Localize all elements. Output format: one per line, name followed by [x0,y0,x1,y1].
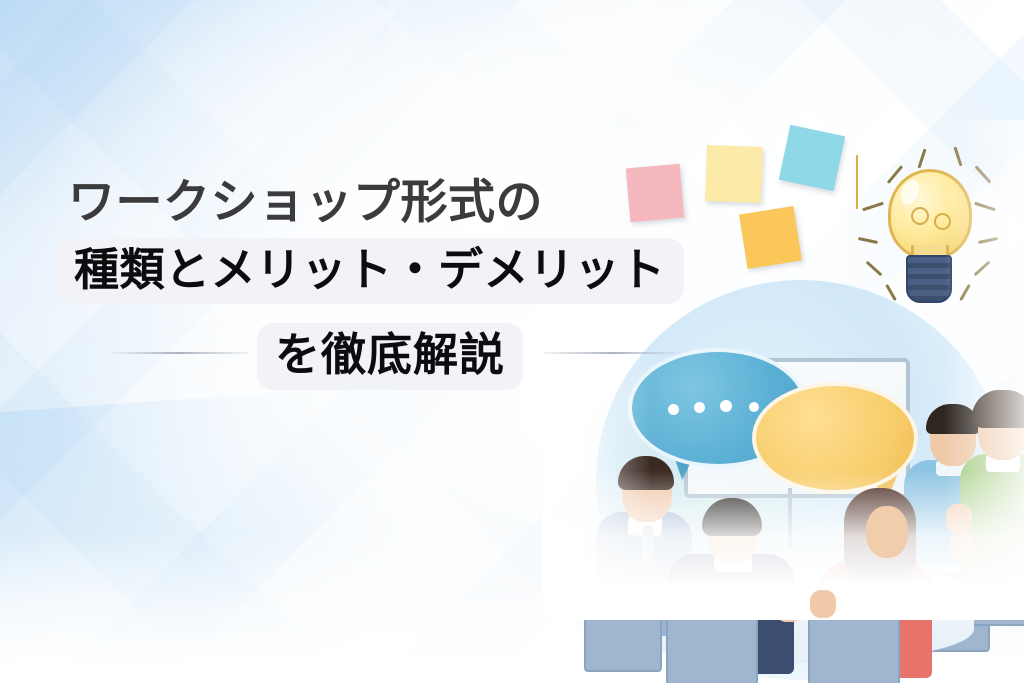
chair [666,606,758,683]
bulb-ray [978,237,998,244]
banner-title: ワークショップ形式の 種類とメリット・デメリット を徹底解説 [56,176,756,382]
bulb-ray [959,284,971,301]
light-bulb-icon [856,155,996,315]
bubble-dot [694,402,705,413]
person-green-cardigan [960,382,1024,602]
decorative-rule-left [106,352,248,354]
title-line-2-row: 種類とメリット・デメリット [56,238,684,305]
sticky-note-cyan [779,125,845,191]
person-hand [810,590,836,618]
person-hand [946,504,972,534]
bubble-dot [720,400,732,412]
bulb-filament-loop [911,207,929,225]
bulb-ray [866,261,883,277]
speech-bubble-yellow [752,382,918,494]
person-hair [972,390,1024,428]
bulb-base [906,255,952,303]
chair [808,612,900,683]
decorative-rule-right [543,352,685,354]
bulb-ray [862,202,884,212]
bulb-ray [974,261,991,277]
person-hand [776,596,802,622]
bulb-filament-stem [856,155,858,185]
bulb-ray [953,147,962,167]
bulb-ray [975,165,992,183]
banner-image: ワークショップ形式の 種類とメリット・デメリット を徹底解説 [0,0,1024,683]
bulb-filament-stem [856,185,858,209]
title-line-3: を徹底解説 [275,329,505,380]
title-line-3-highlight: を徹底解説 [257,323,523,390]
person-hair [702,498,762,536]
person-head [866,506,908,558]
bulb-filament-loop [934,213,951,230]
bulb-ray [917,149,926,169]
title-line-2-highlight: 種類とメリット・デメリット [56,238,684,305]
bulb-ray [885,284,897,301]
bulb-ray [974,202,996,212]
person-hand [950,532,974,560]
title-line-1: ワークショップ形式の [68,176,756,229]
chair [584,590,662,672]
person-tie [642,526,653,564]
bubble-dot [668,404,679,415]
title-line-3-row: を徹底解説 [56,326,756,382]
title-line-2: 種類とメリット・デメリット [74,244,666,295]
bulb-ray [858,237,878,244]
person-hair [618,456,674,490]
bubble-dot [749,402,759,412]
